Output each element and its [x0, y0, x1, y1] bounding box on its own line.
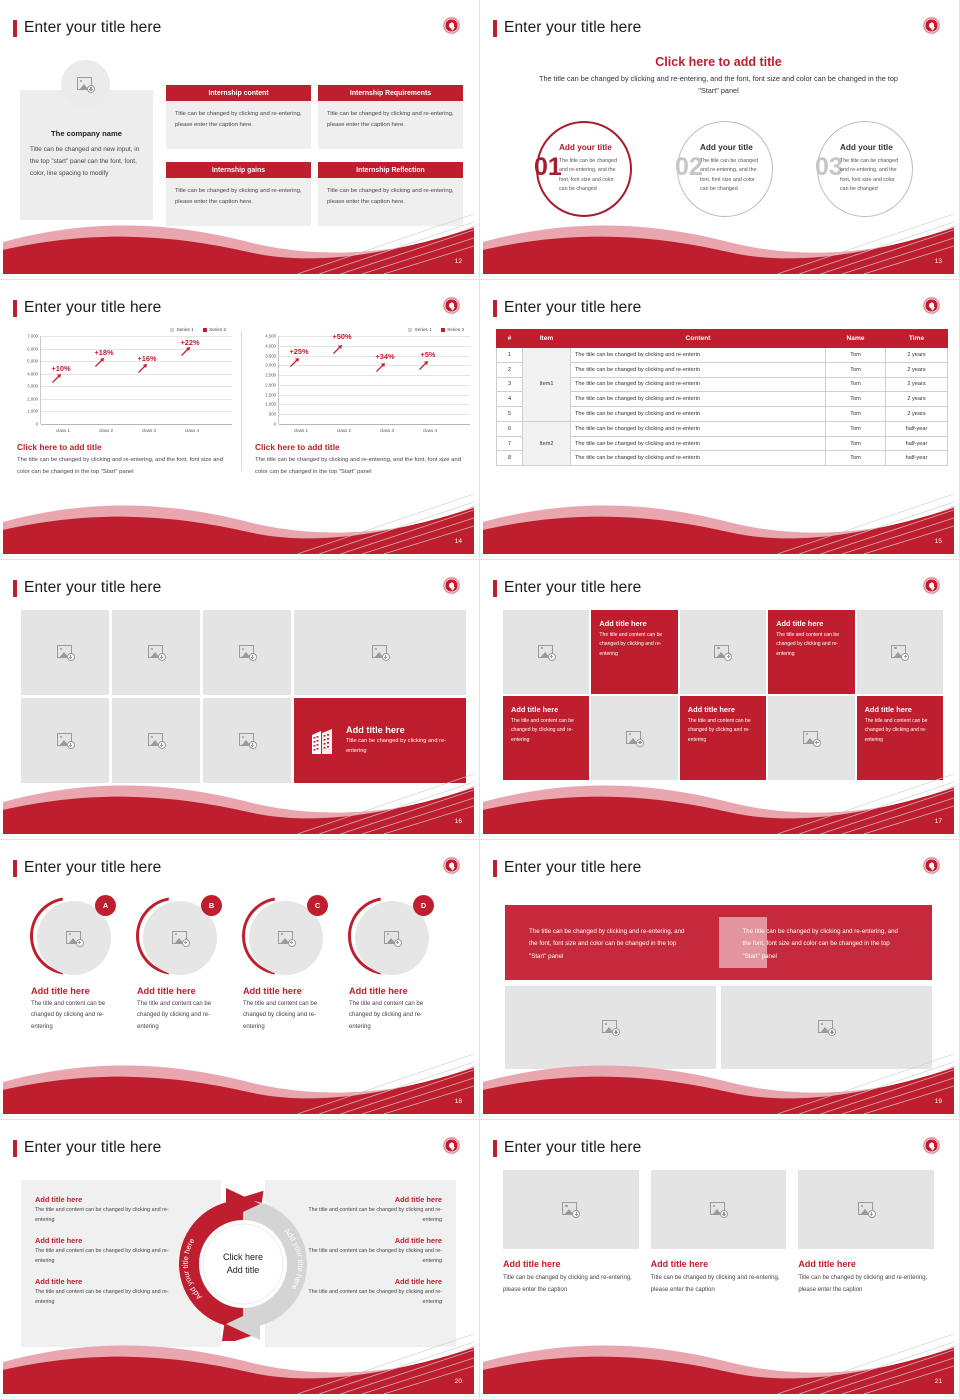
badge-letter: B [201, 895, 222, 916]
y-tick: 0 [274, 422, 276, 427]
card-body: Title can be changed by clicking and re-… [651, 1273, 787, 1296]
table-header-row: # Item Content Name Time [497, 330, 948, 348]
ring-number: 01 [534, 155, 562, 180]
item-body: The title and content can be changed by … [27, 999, 125, 1033]
university-crest-logo [443, 577, 460, 594]
page-title: Enter your title here [13, 299, 161, 317]
company-panel[interactable]: The company name Title can be changed an… [20, 90, 153, 220]
image-tile[interactable] [680, 610, 766, 694]
university-crest-logo [443, 1137, 460, 1154]
card-body: Title can be changed by clicking and re-… [503, 1273, 639, 1296]
image-placeholder-icon [818, 1020, 835, 1035]
chart-caption-body: The title can be changed by clicking and… [255, 455, 470, 478]
info-card[interactable]: Internship content Title can be changed … [166, 85, 311, 149]
page-title: Enter your title here [493, 859, 641, 877]
slide-21[interactable]: Enter your title here Add title here Tit… [480, 1120, 960, 1400]
item-title: Add title here [239, 986, 337, 996]
card-image[interactable] [798, 1170, 934, 1249]
chart-annotation: +22% [180, 338, 199, 347]
card-body: Title can be changed by clicking and re-… [318, 101, 463, 149]
cell-content: The title can be changed by clicking and… [571, 421, 826, 436]
university-crest-logo [923, 17, 940, 34]
cell-item-group-2: Item2 [523, 421, 571, 465]
x-tick: class 2 [337, 428, 351, 433]
tile-title: Add title here [776, 619, 846, 628]
page-number: 20 [455, 1378, 462, 1385]
footer-wave [3, 1052, 474, 1114]
data-table[interactable]: # Item Content Name Time 1 Item1 The tit… [496, 329, 948, 466]
item-body: The title and content can be changed by … [345, 999, 443, 1033]
page-title: Enter your title here [13, 579, 161, 597]
chart-legend: Series 1 Series 2 [17, 327, 232, 332]
list-item[interactable]: Add title here The title and content can… [35, 1236, 172, 1266]
tile-body: The title and content can be changed by … [865, 717, 935, 745]
university-crest-logo [923, 577, 940, 594]
feature-tile[interactable]: Add title here Title can be changed by c… [294, 698, 466, 783]
media-card[interactable]: Add title here Title can be changed by c… [651, 1170, 787, 1296]
slide-deck: Enter your title here The company name T… [0, 0, 960, 1400]
ring-body: The title can be changed and re-entering… [840, 157, 901, 194]
item-body: The title and content can be changed by … [133, 999, 231, 1033]
item-body: The title and content can be changed by … [305, 1205, 442, 1225]
title-accent-bar [13, 20, 17, 37]
card-title: Add title here [798, 1259, 934, 1269]
circle-item-b[interactable]: B Add title here The title and content c… [133, 895, 231, 1033]
legend-series-1: Series 1 [415, 327, 432, 332]
x-tick: class 2 [99, 428, 113, 433]
footer-wave [483, 772, 954, 834]
slide-12[interactable]: Enter your title here The company name T… [0, 0, 480, 280]
image-placeholder-icon [239, 645, 256, 660]
title-accent-bar [493, 860, 497, 877]
cell-time: 2 years [886, 348, 948, 363]
image-placeholder-icon [710, 1202, 727, 1217]
slide-14[interactable]: Enter your title here Series 1 Series 2 … [0, 280, 480, 560]
red-banner[interactable]: The title can be changed by clicking and… [505, 905, 932, 980]
y-tick: 6,000 [27, 346, 38, 351]
page-title: Enter your title here [493, 299, 641, 317]
university-crest-logo [443, 857, 460, 874]
item-title: Add title here [35, 1277, 172, 1286]
chart-plot-area: 7,000 6,000 5,000 4,000 3,000 2,000 1,00… [17, 336, 232, 424]
cell-time: half-year [886, 421, 948, 436]
image-tile[interactable] [768, 696, 854, 780]
y-tick: 3,500 [265, 353, 276, 358]
badge-letter: C [307, 895, 328, 916]
image-grid: Add title here Title can be changed by c… [21, 610, 461, 783]
cell-name: Tom [826, 362, 886, 377]
image-placeholder-icon [803, 731, 820, 746]
page-title: Enter your title here [13, 1139, 161, 1157]
cell-time: 2 years [886, 392, 948, 407]
y-axis: 7,000 6,000 5,000 4,000 3,000 2,000 1,00… [17, 336, 40, 424]
tile-title: Add title here [599, 619, 669, 628]
title-text: Enter your title here [24, 579, 161, 597]
page-number: 21 [935, 1378, 942, 1385]
card-header: Internship gains [166, 162, 311, 178]
item-body: The title and content can be changed by … [305, 1287, 442, 1307]
banner-divider [719, 917, 767, 968]
cell-index: 7 [497, 436, 523, 451]
image-placeholder-icon [57, 733, 74, 748]
image-tile[interactable] [203, 698, 291, 783]
y-tick: 2,000 [265, 382, 276, 387]
media-card[interactable]: Add title here Title can be changed by c… [503, 1170, 639, 1296]
tile-body: The title and content can be changed by … [776, 631, 846, 659]
cell-time: 2 years [886, 362, 948, 377]
left-items: Add title here The title and content can… [35, 1195, 172, 1318]
image-placeholder-icon [372, 645, 389, 660]
cell-index: 8 [497, 451, 523, 466]
y-tick: 1,500 [265, 392, 276, 397]
y-tick: 4,000 [265, 343, 276, 348]
title-text: Enter your title here [504, 19, 641, 37]
item-body: The title and content can be changed by … [239, 999, 337, 1033]
title-text: Enter your title here [24, 859, 161, 877]
page-number: 17 [935, 818, 942, 825]
chart-annotation: +25% [289, 347, 308, 356]
cell-item-group-1: Item1 [523, 348, 571, 422]
page-number: 16 [455, 818, 462, 825]
cycle-diagram[interactable]: Add your title here Add your title here … [170, 1186, 316, 1341]
col-time: Time [886, 330, 948, 348]
ring-number: 03 [815, 155, 843, 180]
circle-item-c[interactable]: C Add title here The title and content c… [239, 895, 337, 1033]
title-text: Enter your title here [504, 1139, 641, 1157]
table-row[interactable]: 1 Item1 The title can be changed by clic… [497, 348, 948, 363]
col-index: # [497, 330, 523, 348]
item-title: Add title here [35, 1236, 172, 1245]
chart-caption-title[interactable]: Click here to add title [255, 442, 470, 452]
title-accent-bar [13, 580, 17, 597]
image-tile-wide[interactable] [294, 610, 466, 695]
image-placeholder-icon [57, 645, 74, 660]
page-title: Enter your title here [13, 859, 161, 877]
page-number: 18 [455, 1098, 462, 1105]
title-text: Enter your title here [504, 579, 641, 597]
card-image[interactable] [503, 1170, 639, 1249]
tile-title: Add title here [865, 705, 935, 714]
list-item[interactable]: Add title here The title and content can… [35, 1277, 172, 1307]
feature-body: Title can be changed by clicking and re-… [346, 737, 449, 757]
tile-title: Add title here [688, 705, 758, 714]
image-placeholder-icon [891, 645, 908, 660]
circle-item-d[interactable]: D Add title here The title and content c… [345, 895, 443, 1033]
item-title: Add title here [133, 986, 231, 996]
page-number: 14 [455, 538, 462, 545]
cell-index: 6 [497, 421, 523, 436]
section-divider [241, 331, 242, 471]
page-title: Enter your title here [493, 1139, 641, 1157]
image-placeholder-icon [562, 1202, 579, 1217]
tile-body: The title and content can be changed by … [599, 631, 669, 659]
cell-index: 3 [497, 377, 523, 392]
y-tick: 2,000 [27, 396, 38, 401]
x-tick: class 3 [142, 428, 156, 433]
page-number: 15 [935, 538, 942, 545]
image-placeholder-icon [148, 645, 165, 660]
cycle-center-label[interactable]: Click here Add title [203, 1250, 283, 1276]
card-header: Internship Requirements [318, 85, 463, 101]
y-tick: 3,000 [27, 384, 38, 389]
right-items: Add title here The title and content can… [305, 1195, 442, 1318]
image-tile[interactable] [21, 610, 109, 695]
image-tile[interactable] [203, 610, 291, 695]
x-tick: class 1 [294, 428, 308, 433]
card-header: Internship Reflection [318, 162, 463, 178]
badge-letter: A [95, 895, 116, 916]
image-tile[interactable] [857, 610, 943, 694]
card-body: Title can be changed by clicking and re-… [798, 1273, 934, 1296]
chart-annotation: +16% [137, 354, 156, 363]
item-body: The title and content can be changed by … [305, 1246, 442, 1266]
col-content: Content [571, 330, 826, 348]
footer-wave [3, 1332, 474, 1394]
image-tile[interactable] [503, 610, 589, 694]
footer-wave [483, 1052, 954, 1114]
ring-number: 02 [675, 155, 703, 180]
legend-series-2: Series 2 [209, 327, 226, 332]
cell-time: 2 years [886, 407, 948, 422]
chart-annotation: +50% [332, 332, 351, 341]
title-accent-bar [13, 860, 17, 877]
page-number: 19 [935, 1098, 942, 1105]
page-number: 13 [935, 258, 942, 265]
image-tile[interactable] [112, 610, 200, 695]
cell-time: half-year [886, 436, 948, 451]
cell-content: The title can be changed by clicking and… [571, 451, 826, 466]
center-line-2: Add title [203, 1264, 283, 1277]
company-body: Title can be changed and new input, in t… [30, 144, 143, 180]
text-tile[interactable]: Add title here The title and content can… [857, 696, 943, 780]
building-icon [311, 728, 333, 754]
cell-content: The title can be changed by clicking and… [571, 407, 826, 422]
university-crest-logo [443, 297, 460, 314]
chart-bars: class 1 +10% class 2 +18% class 3 +16% c… [40, 336, 232, 424]
cell-name: Tom [826, 407, 886, 422]
tile-body: The title and content can be changed by … [511, 717, 581, 745]
ring-body: The title can be changed and re-entering… [559, 157, 620, 194]
y-tick: 0 [36, 422, 38, 427]
footer-wave [483, 1332, 954, 1394]
chart-annotation: +10% [51, 364, 70, 373]
title-accent-bar [13, 300, 17, 317]
image-placeholder-icon [384, 931, 401, 946]
page-title: Enter your title here [493, 579, 641, 597]
item-title: Add title here [305, 1195, 442, 1204]
card-title: Add title here [503, 1259, 639, 1269]
university-crest-logo [923, 297, 940, 314]
cell-content: The title can be changed by clicking and… [571, 436, 826, 451]
item-title: Add title here [305, 1236, 442, 1245]
x-tick: class 3 [380, 428, 394, 433]
image-tile[interactable] [112, 698, 200, 783]
item-body: The title and content can be changed by … [35, 1287, 172, 1307]
y-tick: 4,500 [265, 334, 276, 339]
image-placeholder-icon [858, 1202, 875, 1217]
circle-item-a[interactable]: A Add title here The title and content c… [27, 895, 125, 1033]
info-card[interactable]: Internship Requirements Title can be cha… [318, 85, 463, 149]
x-tick: class 4 [185, 428, 199, 433]
footer-wave [3, 212, 474, 274]
image-tile[interactable] [21, 698, 109, 783]
y-tick: 3,000 [265, 363, 276, 368]
slide-19[interactable]: Enter your title here The title can be c… [480, 840, 960, 1120]
university-crest-logo [443, 17, 460, 34]
y-tick: 7,000 [27, 334, 38, 339]
title-accent-bar [493, 300, 497, 317]
footer-wave [483, 492, 954, 554]
tile-title: Add title here [511, 705, 581, 714]
text-tile[interactable]: Add title here The title and content can… [503, 696, 589, 780]
x-tick: class 4 [423, 428, 437, 433]
cell-index: 1 [497, 348, 523, 363]
list-item[interactable]: Add title here The title and content can… [305, 1195, 442, 1225]
chart-annotation: +34% [375, 352, 394, 361]
university-crest-logo [923, 1137, 940, 1154]
x-tick: class 1 [56, 428, 70, 433]
cell-content: The title can be changed by clicking and… [571, 348, 826, 363]
title-text: Enter your title here [504, 859, 641, 877]
chart-bars: class 1 +25% class 2 +50% class 3 +34% c… [278, 336, 470, 424]
card-body: Title can be changed by clicking and re-… [166, 101, 311, 149]
slide-18[interactable]: Enter your title here A Add title here T… [0, 840, 480, 1120]
y-tick: 1,000 [265, 402, 276, 407]
footer-wave [3, 492, 474, 554]
image-placeholder-icon [148, 733, 165, 748]
title-accent-bar [13, 1140, 17, 1157]
image-placeholder-icon [626, 731, 643, 746]
chart-annotation: +5% [421, 350, 436, 359]
text-tile[interactable]: Add title here The title and content can… [591, 610, 677, 694]
image-placeholder-icon [538, 645, 555, 660]
cell-time: half-year [886, 451, 948, 466]
center-line-1: Click here [203, 1250, 283, 1263]
page-title: Enter your title here [493, 19, 641, 37]
cell-content: The title can be changed by clicking and… [571, 392, 826, 407]
title-text: Enter your title here [24, 299, 161, 317]
title-accent-bar [493, 1140, 497, 1157]
list-item[interactable]: Add title here The title and content can… [305, 1236, 442, 1266]
media-card[interactable]: Add title here Title can be changed by c… [798, 1170, 934, 1296]
title-accent-bar [493, 20, 497, 37]
image-placeholder-icon [714, 645, 731, 660]
title-text: Enter your title here [504, 299, 641, 317]
footer-wave [483, 212, 954, 274]
section-subheading: The title can be changed by clicking and… [529, 73, 908, 97]
cell-name: Tom [826, 377, 886, 392]
ring-title: Add your title [559, 143, 612, 152]
cell-name: Tom [826, 348, 886, 363]
cell-name: Tom [826, 451, 886, 466]
card-header: Internship content [166, 85, 311, 101]
page-number: 12 [455, 258, 462, 265]
image-placeholder-icon [602, 1020, 619, 1035]
cell-index: 5 [497, 407, 523, 422]
cell-name: Tom [826, 436, 886, 451]
company-name: The company name [30, 129, 143, 138]
section-heading[interactable]: Click here to add title [483, 55, 954, 69]
item-title: Add title here [35, 1195, 172, 1204]
cell-name: Tom [826, 392, 886, 407]
item-title: Add title here [345, 986, 443, 996]
list-item[interactable]: Add title here The title and content can… [35, 1195, 172, 1225]
page-title: Enter your title here [13, 19, 161, 37]
slide-13[interactable]: Enter your title here Click here to add … [480, 0, 960, 280]
company-image-placeholder[interactable] [61, 60, 110, 109]
university-crest-logo [923, 857, 940, 874]
legend-series-1: Series 1 [177, 327, 194, 332]
col-item: Item [523, 330, 571, 348]
list-item[interactable]: Add title here The title and content can… [305, 1277, 442, 1307]
feature-title: Add title here [346, 725, 449, 735]
bar-chart-2[interactable]: Series 1 Series 2 4,500 4,000 3,500 3,00… [255, 327, 470, 502]
y-tick: 2,500 [265, 373, 276, 378]
title-text: Enter your title here [24, 1139, 161, 1157]
image-placeholder-icon [77, 77, 94, 92]
banner-text-left: The title can be changed by clicking and… [505, 905, 719, 980]
y-tick: 1,000 [27, 409, 38, 414]
y-tick: 500 [269, 412, 276, 417]
badge-letter: D [413, 895, 434, 916]
cell-index: 4 [497, 392, 523, 407]
slide-20[interactable]: Enter your title here Add title here The… [0, 1120, 480, 1400]
image-placeholder-icon [66, 931, 83, 946]
footer-wave [3, 772, 474, 834]
item-title: Add title here [305, 1277, 442, 1286]
image-tile[interactable] [591, 696, 677, 780]
item-title: Add title here [27, 986, 125, 996]
ring-title: Add your title [700, 143, 753, 152]
card-row: Add title here Title can be changed by c… [503, 1170, 934, 1296]
title-text: Enter your title here [24, 19, 161, 37]
y-tick: 4,000 [27, 371, 38, 376]
card-title: Add title here [651, 1259, 787, 1269]
table-row[interactable]: 6 Item2 The title can be changed by clic… [497, 421, 948, 436]
cell-content: The title can be changed by clicking and… [571, 362, 826, 377]
cell-name: Tom [826, 421, 886, 436]
chart-annotation: +18% [94, 348, 113, 357]
bar-chart-1[interactable]: Series 1 Series 2 7,000 6,000 5,000 4,00… [17, 327, 232, 502]
col-name: Name [826, 330, 886, 348]
tile-body: The title and content can be changed by … [688, 717, 758, 745]
text-tile[interactable]: Add title here The title and content can… [680, 696, 766, 780]
legend-series-2: Series 2 [447, 327, 464, 332]
chart-legend: Series 1 Series 2 [255, 327, 470, 332]
cell-index: 2 [497, 362, 523, 377]
item-body: The title and content can be changed by … [35, 1246, 172, 1266]
item-body: The title and content can be changed by … [35, 1205, 172, 1225]
slide-17[interactable]: Enter your title here Add title here The… [480, 560, 960, 840]
title-accent-bar [493, 580, 497, 597]
image-placeholder-icon [172, 931, 189, 946]
y-axis: 4,500 4,000 3,500 3,000 2,500 2,000 1,50… [255, 336, 278, 424]
cell-content: The title can be changed by clicking and… [571, 377, 826, 392]
chart-caption-title[interactable]: Click here to add title [17, 442, 232, 452]
slide-15[interactable]: Enter your title here # Item Content Nam… [480, 280, 960, 560]
ring-title: Add your title [840, 143, 893, 152]
slide-16[interactable]: Enter your title here [0, 560, 480, 840]
y-tick: 5,000 [27, 359, 38, 364]
image-placeholder-icon [278, 931, 295, 946]
cell-time: 2 years [886, 377, 948, 392]
chart-caption-body: The title can be changed by clicking and… [17, 455, 232, 478]
image-placeholder-icon [239, 733, 256, 748]
ring-body: The title can be changed and re-entering… [700, 157, 761, 194]
mosaic-grid: Add title here The title and content can… [503, 610, 943, 780]
text-tile[interactable]: Add title here The title and content can… [768, 610, 854, 694]
card-image[interactable] [651, 1170, 787, 1249]
